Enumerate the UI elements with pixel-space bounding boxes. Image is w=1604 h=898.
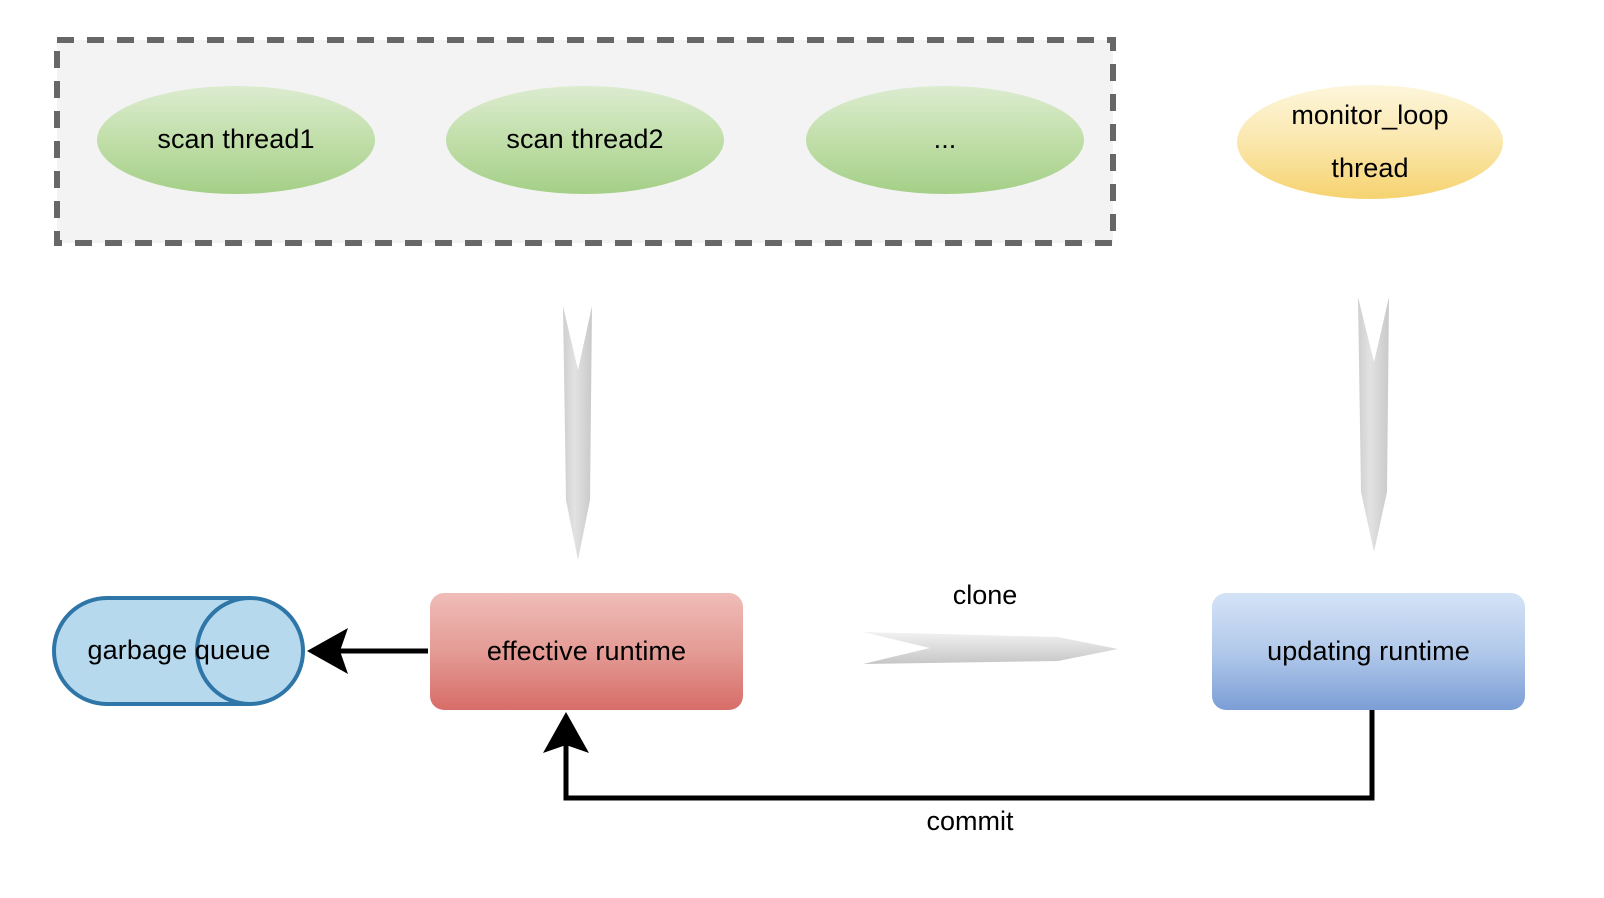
- monitor-to-updating-arrow: [1358, 297, 1389, 552]
- diagram-shapes: [0, 0, 1604, 898]
- effective-runtime-shape[interactable]: [430, 593, 743, 710]
- clone-edge-arrow: [863, 632, 1118, 664]
- diagram-canvas: scan thread1 scan thread2 ... monitor_lo…: [0, 0, 1604, 898]
- scan-thread-more-shape[interactable]: [806, 86, 1084, 194]
- scan-to-effective-arrow: [563, 306, 592, 560]
- commit-edge-label: commit: [870, 806, 1070, 837]
- scan-thread-2-shape[interactable]: [446, 86, 724, 194]
- commit-edge-line: [566, 710, 1372, 798]
- garbage-queue-shape[interactable]: [54, 598, 303, 704]
- clone-edge-label: clone: [885, 580, 1085, 611]
- updating-runtime-shape[interactable]: [1212, 593, 1525, 710]
- scan-thread-1-shape[interactable]: [97, 86, 375, 194]
- monitor-loop-thread-shape[interactable]: [1237, 85, 1503, 199]
